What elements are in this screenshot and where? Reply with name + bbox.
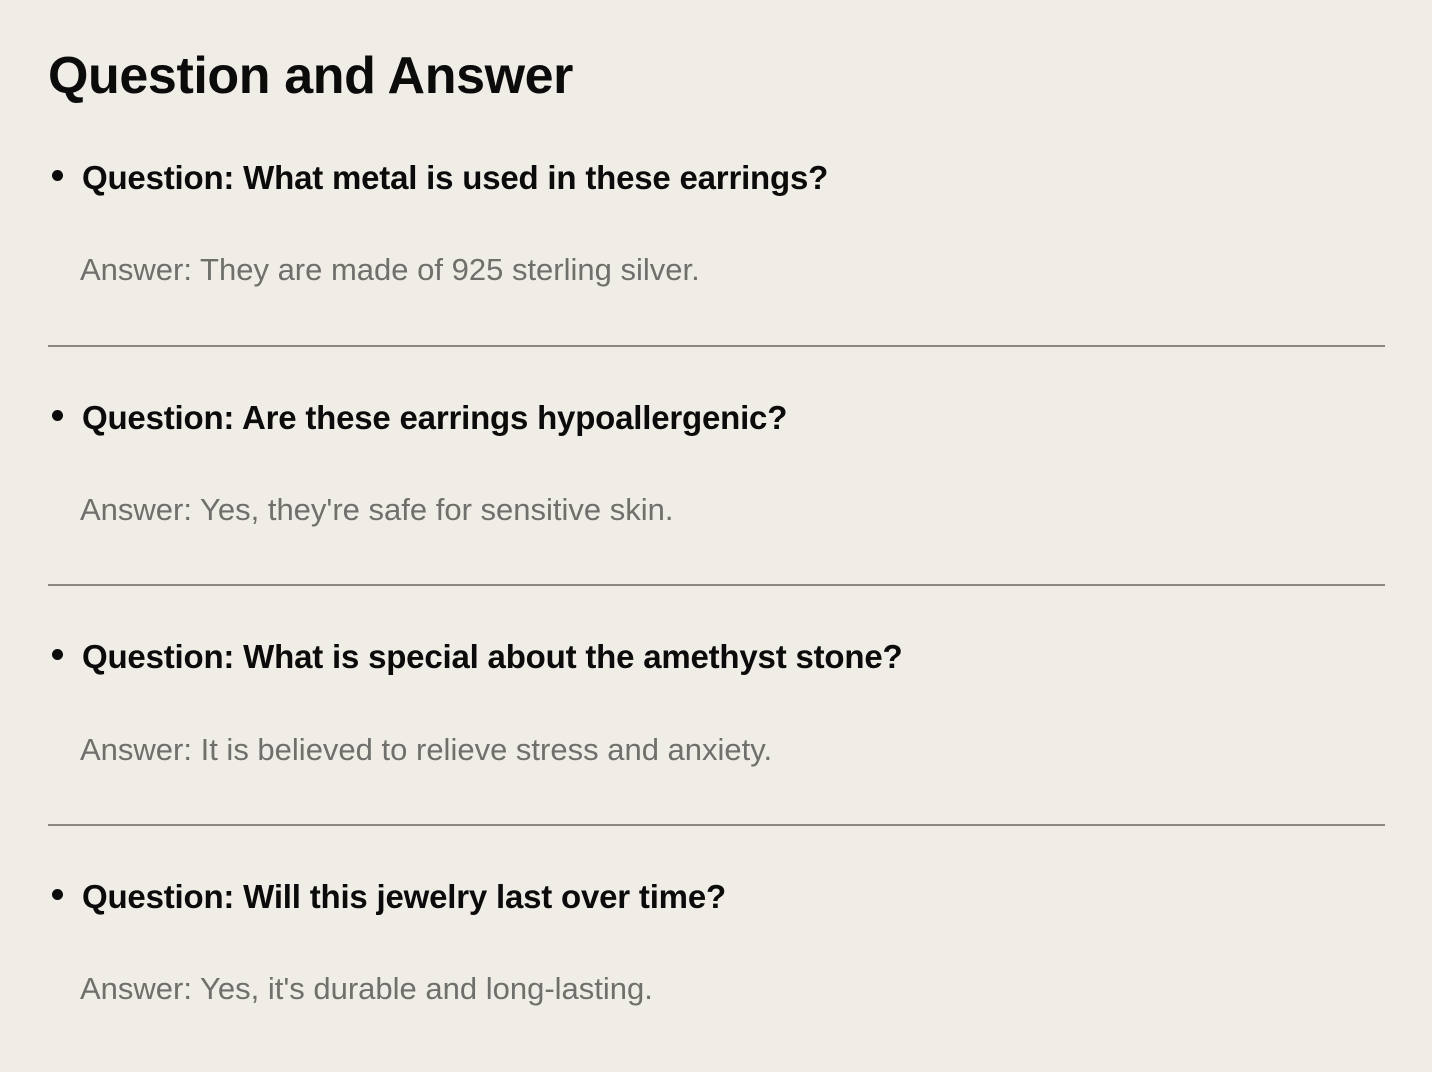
- qa-answer: Answer: Yes, they're safe for sensitive …: [48, 438, 1384, 530]
- bullet-dot-icon: [52, 170, 63, 181]
- qa-question-row: Question: What metal is used in these ea…: [48, 157, 1384, 198]
- qa-question: Question: Will this jewelry last over ti…: [82, 876, 1384, 917]
- qa-question: Question: Are these earrings hypoallerge…: [82, 397, 1384, 438]
- qa-list: Question: What metal is used in these ea…: [48, 157, 1384, 1009]
- qa-question: Question: What is special about the amet…: [82, 636, 1384, 677]
- qa-question-row: Question: Are these earrings hypoallerge…: [48, 397, 1384, 438]
- qa-answer: Answer: Yes, it's durable and long-lasti…: [48, 917, 1384, 1009]
- qa-item: Question: What metal is used in these ea…: [48, 157, 1384, 347]
- qa-page: Question and Answer Question: What metal…: [0, 0, 1432, 1072]
- qa-divider: [48, 824, 1385, 826]
- bullet-dot-icon: [52, 649, 63, 660]
- qa-divider: [48, 345, 1385, 347]
- bullet-dot-icon: [52, 410, 63, 421]
- qa-answer: Answer: They are made of 925 sterling si…: [48, 198, 1384, 290]
- qa-item: Question: Are these earrings hypoallerge…: [48, 397, 1384, 587]
- page-title: Question and Answer: [48, 0, 1384, 105]
- qa-answer: Answer: It is believed to relieve stress…: [48, 678, 1384, 770]
- qa-question-row: Question: What is special about the amet…: [48, 636, 1384, 677]
- bullet-dot-icon: [52, 889, 63, 900]
- qa-item: Question: What is special about the amet…: [48, 636, 1384, 826]
- qa-question-row: Question: Will this jewelry last over ti…: [48, 876, 1384, 917]
- qa-question: Question: What metal is used in these ea…: [82, 157, 1384, 198]
- qa-item: Question: Will this jewelry last over ti…: [48, 876, 1384, 1010]
- qa-divider: [48, 584, 1385, 586]
